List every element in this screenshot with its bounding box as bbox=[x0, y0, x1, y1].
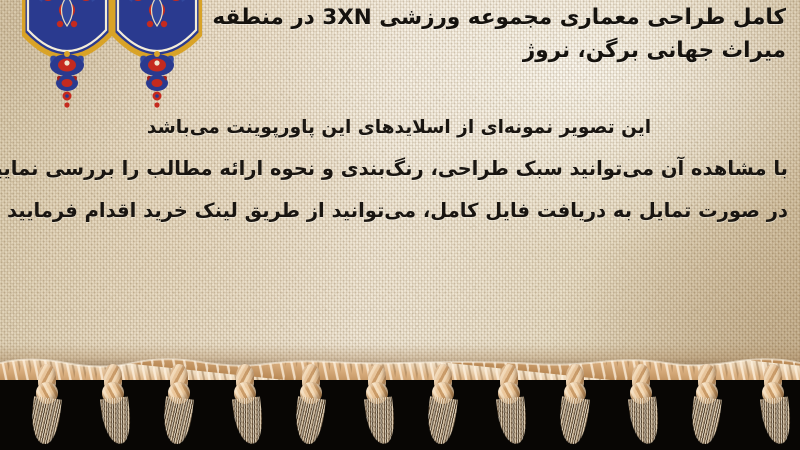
tassel-strands bbox=[688, 396, 721, 445]
fringe-tassel bbox=[362, 356, 392, 444]
fringe-tassel bbox=[230, 356, 260, 444]
title-line-1: کامل طراحی معماری مجموعه ورزشی 3XN در من… bbox=[196, 2, 786, 35]
tassel-strands bbox=[28, 396, 61, 445]
fringe-tassel bbox=[692, 356, 722, 444]
tassel-strands bbox=[232, 397, 265, 446]
title-line-2: میراث جهانی برگن، نروژ bbox=[196, 35, 786, 68]
ornament-pendant-drop-left bbox=[50, 51, 84, 108]
body-line-2: با مشاهده آن می‌توانید سبک طراحی، رنگ‌بن… bbox=[10, 148, 788, 190]
carpet-pendant-ornament-left bbox=[18, 0, 116, 112]
slide-title: کامل طراحی معماری مجموعه ورزشی 3XN در من… bbox=[196, 2, 786, 67]
body-line-1: این تصویر نمونه‌ای از اسلایدهای این پاور… bbox=[10, 108, 788, 148]
fringe-tassel bbox=[626, 356, 656, 444]
body-line-3: در صورت تمایل به دریافت فایل کامل، می‌تو… bbox=[10, 190, 788, 232]
carpet-pendant-ornament-right bbox=[108, 0, 206, 112]
tassel-strands bbox=[100, 397, 133, 446]
tassel-strands bbox=[160, 396, 193, 445]
tassel-strands bbox=[292, 396, 325, 445]
tassel-strands bbox=[424, 396, 457, 445]
fringe-tassel bbox=[560, 356, 590, 444]
fringe-tassel bbox=[32, 356, 62, 444]
tassel-strands bbox=[496, 397, 529, 446]
ornament-pendant-drop-right bbox=[140, 51, 174, 108]
fringe-tassel bbox=[164, 356, 194, 444]
fringe-tassel bbox=[98, 356, 128, 444]
carpet-fringe-row bbox=[0, 356, 800, 450]
tassel-strands bbox=[364, 397, 397, 446]
tassel-strands bbox=[760, 397, 793, 446]
fringe-tassel bbox=[494, 356, 524, 444]
tassel-strands bbox=[556, 396, 589, 445]
fringe-tassel bbox=[758, 356, 788, 444]
fringe-tassel bbox=[296, 356, 326, 444]
tassel-strands bbox=[628, 397, 661, 446]
fringe-tassel bbox=[428, 356, 458, 444]
slide-body-text: این تصویر نمونه‌ای از اسلایدهای این پاور… bbox=[10, 108, 788, 232]
slide-canvas: کامل طراحی معماری مجموعه ورزشی 3XN در من… bbox=[0, 0, 800, 450]
